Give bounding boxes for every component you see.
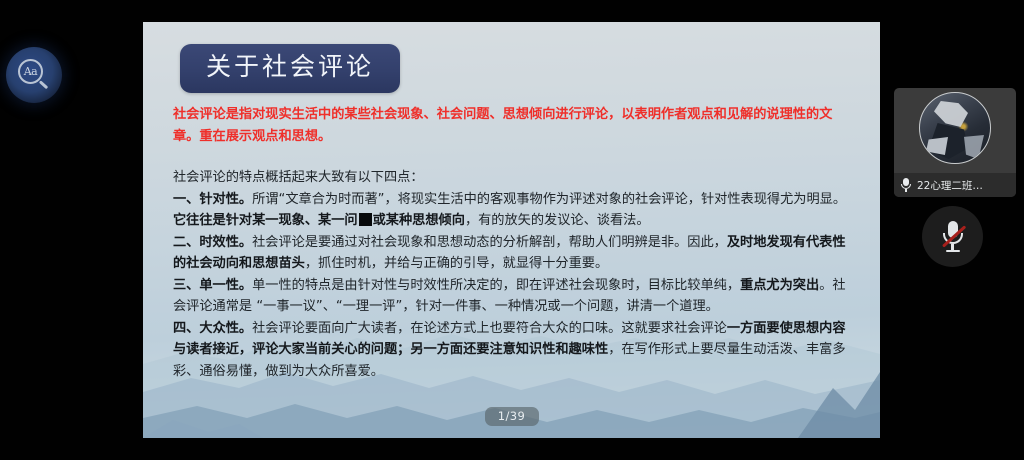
shared-slide[interactable]: 关于社会评论 社会评论是指对现实生活中的某些社会现象、社会问题、思想倾向进行评论… — [143, 22, 880, 438]
meeting-screen-share-view: Aa 关于社会评论 社会评论是指对现实生活中的某些社会现象、社会问题、思想倾向进… — [0, 0, 1024, 460]
slide-point-label: 四、大众性。 — [173, 321, 252, 336]
mic-stem — [905, 189, 906, 192]
redaction-block — [359, 213, 372, 226]
slide-point-label: 三、单一性。 — [173, 278, 252, 293]
mute-toggle-button[interactable] — [922, 206, 983, 267]
slide-title: 关于社会评论 — [180, 44, 400, 93]
mic-base — [946, 250, 960, 252]
microphone-muted-icon — [941, 221, 965, 252]
magnifier-aa-label: Aa — [17, 58, 44, 85]
slide-body-text: 社会评论是指对现实生活中的某些社会现象、社会问题、思想倾向进行评论，以表明作者观… — [173, 104, 858, 382]
page-indicator[interactable]: 1/39 — [485, 407, 539, 426]
microphone-icon — [900, 178, 912, 193]
slide-point: 二、时效性。社会评论是要通过对社会现象和思想动态的分析解剖，帮助人们明辨是非。因… — [173, 232, 858, 275]
text-magnifier-icon: Aa — [17, 58, 51, 92]
slide-points-list: 一、针对性。所谓“文章合为时而著”，将现实生活中的客观事物作为评述对象的社会评论… — [173, 189, 858, 383]
slide-point-emphasis: 它往往是针对某一现象、某一问 — [173, 213, 358, 228]
avatar-shape-a — [934, 101, 968, 127]
slide-point-label: 一、针对性。 — [173, 192, 252, 207]
slide-point-text: ，抓住时机，并给与正确的引导，就显得十分重要。 — [305, 256, 608, 271]
text-magnifier-tool-button[interactable]: Aa — [6, 47, 62, 103]
participant-footer: 22心理二班… — [894, 173, 1016, 197]
slide-point-text: 单一性的特点是由针对性与时效性所决定的，即在评述社会现象时，目标比较单纯， — [252, 278, 740, 293]
slide-point-label: 二、时效性。 — [173, 235, 252, 250]
participant-name: 22心理二班… — [917, 178, 983, 193]
slide-point-emphasis: 或某种思想倾向 — [373, 213, 465, 228]
slide-point-text: 社会评论要面向广大读者，在论述方式上也要符合大众的口味。这就要求社会评论 — [252, 321, 727, 336]
slide-point-text: ，有的放矢的发议论、谈看法。 — [465, 213, 650, 228]
slide-lead-paragraph: 社会评论是指对现实生活中的某些社会现象、社会问题、思想倾向进行评论，以表明作者观… — [173, 104, 858, 147]
slide-point-emphasis: 重点尤为突出 — [740, 278, 819, 293]
slide-point: 一、针对性。所谓“文章合为时而著”，将现实生活中的客观事物作为评述对象的社会评论… — [173, 189, 858, 232]
slide-point: 四、大众性。社会评论要面向广大读者，在论述方式上也要符合大众的口味。这就要求社会… — [173, 318, 858, 383]
slide-point: 三、单一性。单一性的特点是由针对性与时效性所决定的，即在评述社会现象时，目标比较… — [173, 275, 858, 318]
slide-point-text: 社会评论是要通过对社会现象和思想动态的分析解剖，帮助人们明辨是非。因此， — [252, 235, 727, 250]
avatar — [919, 92, 991, 164]
slide-intro-line: 社会评论的特点概括起来大致有以下四点： — [173, 167, 858, 189]
slide-point-text: 所谓“文章合为时而著”，将现实生活中的客观事物作为评述对象的社会评论，针对性表现… — [252, 192, 846, 207]
avatar-shape-c — [926, 137, 948, 155]
avatar-shape-d — [964, 135, 984, 159]
participant-video-tile[interactable]: 22心理二班… — [894, 88, 1016, 197]
